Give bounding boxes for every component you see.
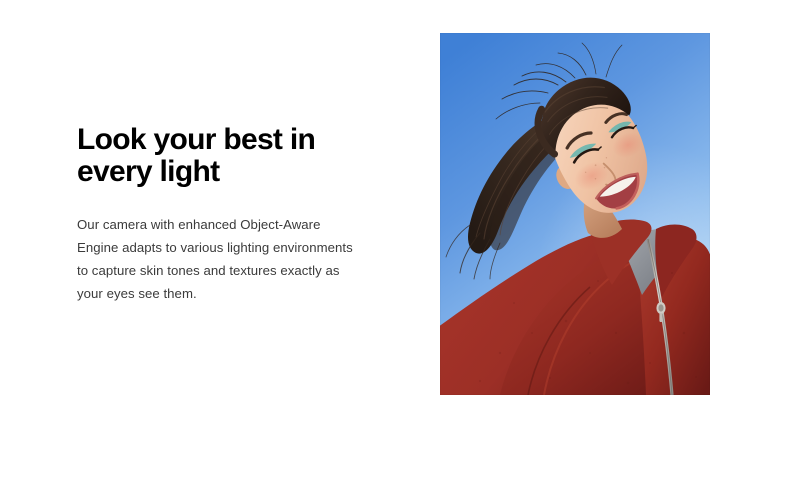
feature-photo	[440, 33, 710, 395]
page-title: Look your best in every light	[77, 124, 407, 188]
text-column: Look your best in every light Our camera…	[77, 124, 407, 305]
body-copy: Our camera with enhanced Object-Aware En…	[77, 188, 407, 305]
portrait-illustration	[440, 33, 710, 395]
feature-section: Look your best in every light Our camera…	[0, 0, 800, 477]
